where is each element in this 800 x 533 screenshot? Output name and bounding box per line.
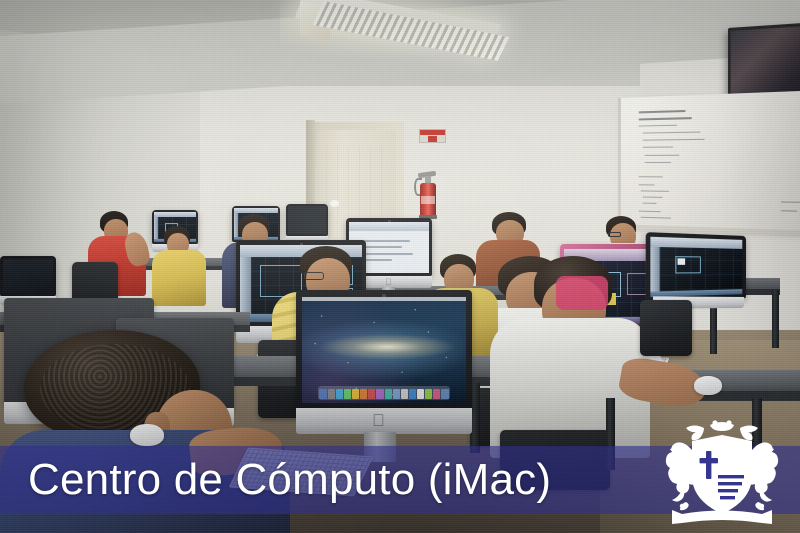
eyeglasses-icon [608,232,621,237]
menu-bar[interactable] [302,297,466,301]
exit-sign-glyph [428,136,437,142]
apple-logo-icon:  [372,412,385,429]
eyeglasses-icon [304,272,324,280]
desk-leg-r2 [772,290,779,348]
caption-title: Centro de Cómputo (iMac) [28,458,551,502]
imac-screen-r3d [646,232,746,302]
imac-screen-b3 [286,204,328,236]
person-tan-torso [152,250,206,306]
fire-extinguisher-label [421,196,435,204]
imac-screen-l1 [0,256,56,296]
imac-screen-front [296,290,472,408]
exit-sign-bar [420,130,445,135]
apple-mouse[interactable] [694,376,722,395]
whiteboard [618,90,800,235]
dock[interactable] [318,386,449,400]
apple-logo-icon:  [385,278,392,287]
backpack [556,276,608,310]
university-coat-of-arms [648,418,796,530]
door-knob [330,200,339,207]
photo-card:   [0,0,800,533]
apple-mouse[interactable] [130,424,164,446]
chair-mid [640,300,692,356]
